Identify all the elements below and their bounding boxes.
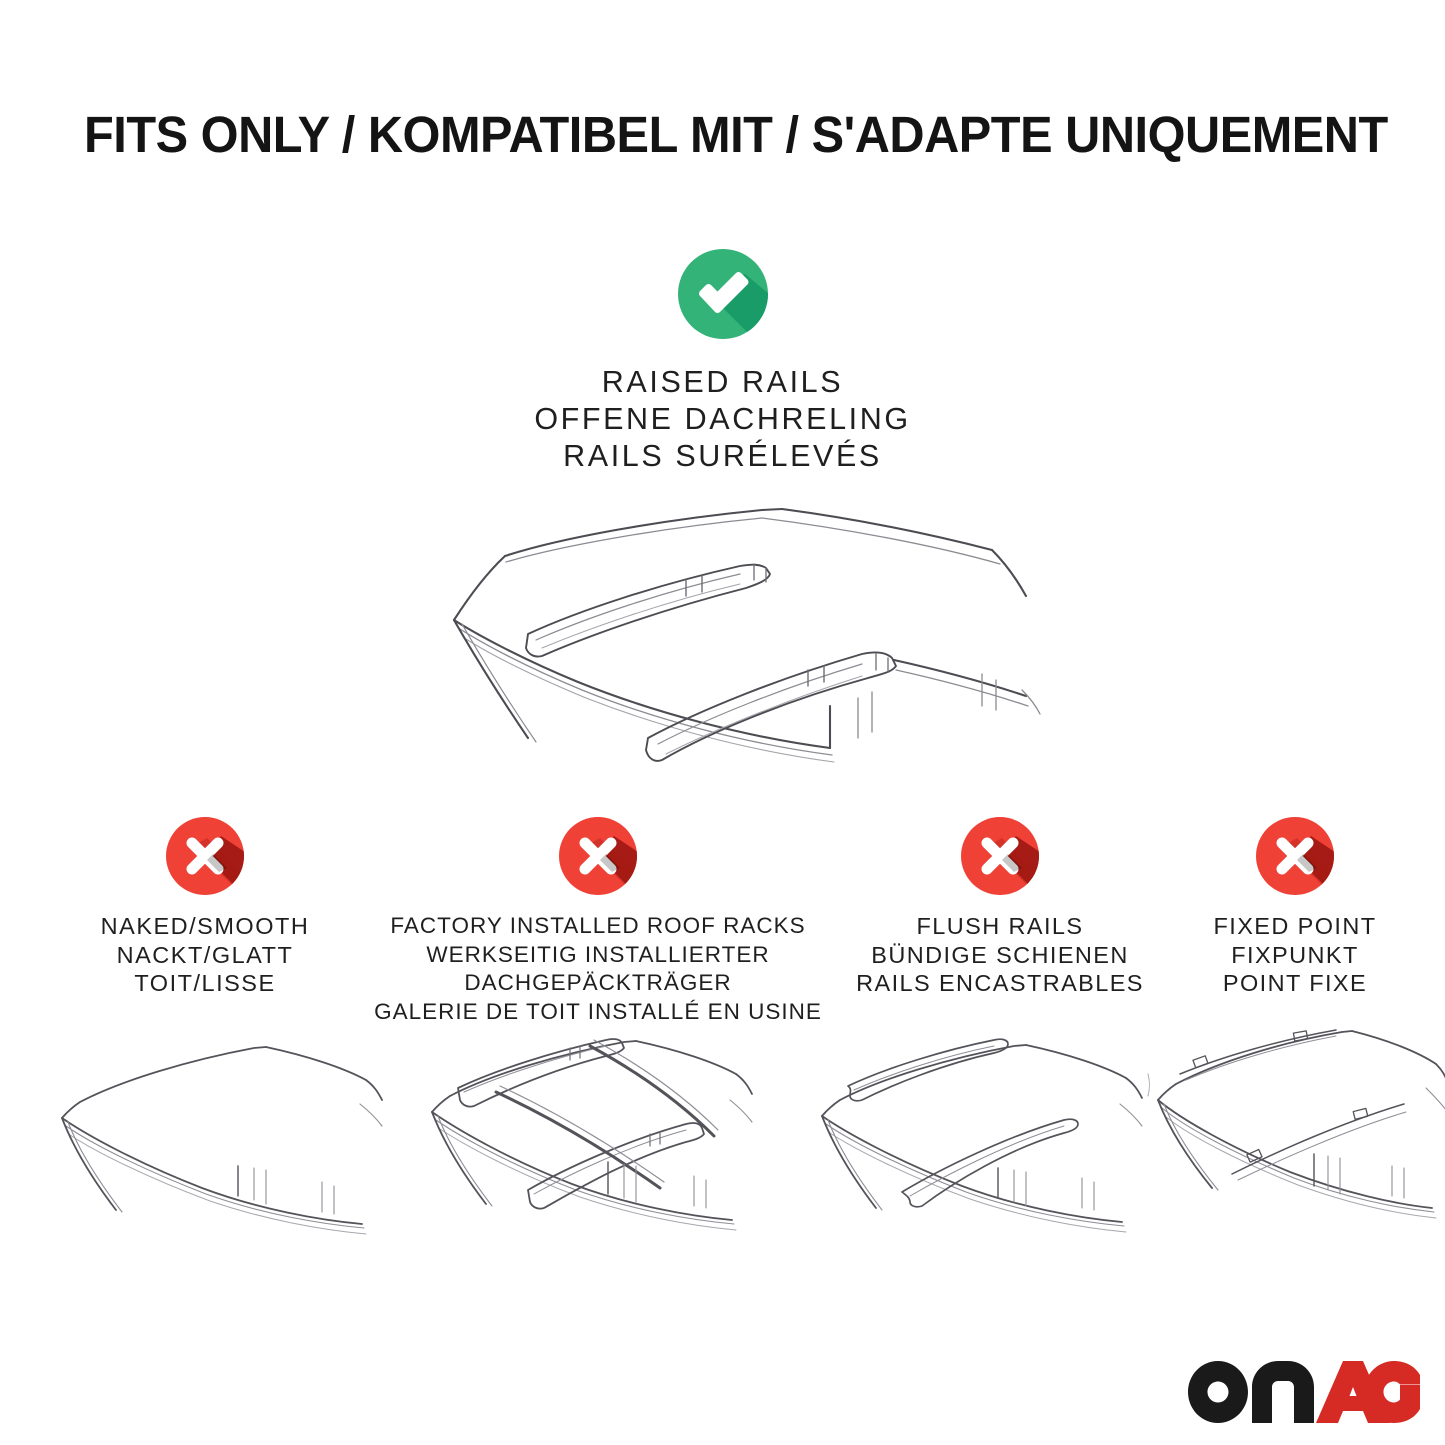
car-roof-raised-rails-illustration [410, 492, 1050, 792]
logo-letter-o [1188, 1361, 1248, 1423]
omac-logo [1188, 1361, 1420, 1423]
car-roof-naked-smooth-illustration [22, 1018, 392, 1248]
column-caption: NAKED/SMOOTH NACKT/GLATT TOIT/LISSE [35, 912, 375, 998]
x-circle-icon [960, 816, 1040, 896]
x-circle-icon [558, 816, 638, 896]
car-roof-factory-racks-illustration [392, 1018, 764, 1248]
incompatible-column-flush-rails: FLUSH RAILS BÜNDIGE SCHIENEN RAILS ENCAS… [826, 816, 1174, 998]
caption-line-1: NAKED/SMOOTH [35, 912, 375, 941]
car-roof-fixed-point-illustration [1132, 1018, 1445, 1248]
caption-line-1: FACTORY INSTALLED ROOF RACKS [372, 912, 824, 941]
x-circle-icon [1255, 816, 1335, 896]
caption-line-1: FIXED POINT [1168, 912, 1422, 941]
caption-line-1: FLUSH RAILS [826, 912, 1174, 941]
compatible-block: RAISED RAILS OFFENE DACHRELING RAILS SUR… [0, 248, 1445, 475]
caption-line-3: RAILS ENCASTRABLES [826, 969, 1174, 998]
caption-line-2: WERKSEITIG INSTALLIERTER [372, 941, 824, 970]
caption-line-2: NACKT/GLATT [35, 941, 375, 970]
caption-line-3: POINT FIXE [1168, 969, 1422, 998]
compatible-line-2: OFFENE DACHRELING [0, 401, 1445, 438]
column-caption: FACTORY INSTALLED ROOF RACKS WERKSEITIG … [372, 912, 824, 1026]
roof-type-illustrations [0, 1018, 1445, 1248]
column-caption: FIXED POINT FIXPUNKT POINT FIXE [1168, 912, 1422, 998]
compatible-line-1: RAISED RAILS [0, 364, 1445, 401]
caption-line-3: TOIT/LISSE [35, 969, 375, 998]
column-caption: FLUSH RAILS BÜNDIGE SCHIENEN RAILS ENCAS… [826, 912, 1174, 998]
car-roof-flush-rails-illustration [782, 1018, 1154, 1248]
compatible-line-3: RAILS SURÉLEVÉS [0, 438, 1445, 475]
compatible-caption: RAISED RAILS OFFENE DACHRELING RAILS SUR… [0, 364, 1445, 475]
incompatible-column-factory-racks: FACTORY INSTALLED ROOF RACKS WERKSEITIG … [372, 816, 824, 1026]
caption-line-2: BÜNDIGE SCHIENEN [826, 941, 1174, 970]
logo-letter-m [1252, 1361, 1314, 1423]
page-title: FITS ONLY / KOMPATIBEL MIT / S'ADAPTE UN… [84, 108, 1316, 162]
caption-line-2: FIXPUNKT [1168, 941, 1422, 970]
x-circle-icon [165, 816, 245, 896]
incompatible-column-fixed-point: FIXED POINT FIXPUNKT POINT FIXE [1168, 816, 1422, 998]
incompatible-column-naked-smooth: NAKED/SMOOTH NACKT/GLATT TOIT/LISSE [35, 816, 375, 998]
check-circle-icon [677, 248, 769, 340]
caption-line-3: DACHGEPÄCKTRÄGER [372, 969, 824, 998]
